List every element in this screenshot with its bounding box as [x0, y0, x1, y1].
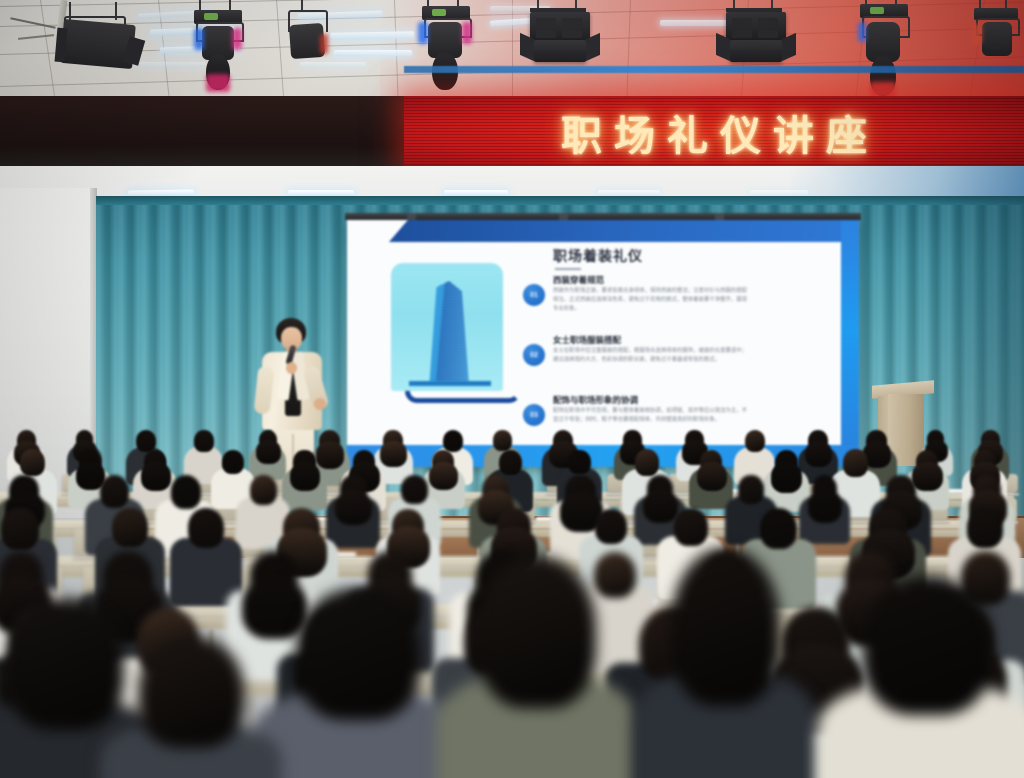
audience-member-head	[595, 509, 627, 544]
led-banner-text: 职场礼仪讲座	[404, 102, 1024, 162]
foreground-attendee-head	[478, 556, 596, 708]
audience-member-head	[674, 508, 708, 545]
ceiling-red-light-wash	[380, 0, 1024, 98]
par-can-light-icon	[282, 10, 332, 68]
lecture-hall-photo: 职场礼仪讲座 职场着装礼仪	[0, 0, 1024, 778]
audience-member-head	[250, 475, 277, 505]
moving-head-light-icon	[852, 4, 914, 98]
curtain-top-shadow	[96, 196, 1024, 205]
foreground-attendee-head	[138, 636, 244, 748]
barn-door-spotlight-icon	[44, 18, 136, 80]
slide-item-heading: 配饰与职场形象的协调	[553, 394, 638, 406]
slide-title-underline	[555, 268, 581, 270]
audience-member-head	[568, 450, 590, 475]
slide-item-heading: 女士职场服装搭配	[553, 334, 621, 346]
audience-member-head	[100, 475, 130, 508]
slide-item-body: 配饰在职场中不可忽视，要与整体着装相协调，如项链、耳环等应以简洁为主，不宜过于夸…	[553, 407, 749, 425]
slide-building-image	[391, 263, 503, 391]
audience-member-head	[493, 430, 512, 451]
slide-item-body: 女士在职场中应注重服装的搭配，根据场合选择得体的服饰，裙装的长度要适中；建议选择…	[553, 347, 749, 365]
slide-item-heading: 西装穿着规范	[553, 274, 604, 286]
led-banner-blue-trim	[404, 66, 1024, 73]
audience-member-head	[194, 430, 214, 452]
slide-top-banner	[389, 220, 859, 242]
audience-member-head	[499, 450, 522, 476]
led-banner-dark-section	[0, 96, 404, 168]
foreground-attendee-head	[671, 548, 780, 706]
foreground-attendee	[628, 548, 823, 778]
audience-member-head	[188, 508, 224, 548]
presenter-hand	[314, 398, 326, 410]
audience-member-head	[738, 475, 764, 503]
foreground-attendee	[432, 556, 642, 778]
foreground-attendee-head	[863, 576, 992, 715]
presenter-hand	[286, 362, 297, 374]
ceiling	[0, 0, 1024, 98]
ceiling-light-panel	[330, 31, 414, 39]
audience-member-head	[843, 449, 868, 477]
slide-item-number: 02	[523, 344, 545, 366]
audience-member-head	[635, 449, 659, 476]
led-banner-screen: 职场礼仪讲座	[404, 96, 1024, 168]
screen-mounting-rail	[345, 213, 861, 220]
slide-surface: 职场着装礼仪 01 西装穿着规范 西装作为职场正装，要求剪裁合身得体，保持西装的…	[347, 220, 859, 467]
projection-screen: 职场着装礼仪 01 西装穿着规范 西装作为职场正装，要求剪裁合身得体，保持西装的…	[345, 213, 861, 475]
audience-member-head	[401, 475, 427, 504]
slide-item-body: 西装作为职场正装，要求剪裁合身得体，保持西装的整洁；注意衬衫与西服的搭配得当，正…	[553, 287, 749, 314]
skyscraper-window-bands	[419, 281, 477, 383]
slide-item-number: 03	[523, 404, 545, 426]
foreground-attendee	[812, 576, 1024, 778]
moving-head-light-icon	[966, 8, 1024, 74]
foreground-attendee-head	[296, 588, 419, 720]
audience-member-head	[112, 508, 147, 547]
led-banner-band: 职场礼仪讲座	[0, 96, 1024, 168]
audience-member-head	[967, 508, 1003, 548]
audience-member-head	[171, 475, 202, 509]
audience-member-head	[760, 508, 797, 549]
slide-item-number: 01	[523, 284, 545, 306]
slide-title: 职场着装礼仪	[553, 246, 643, 266]
moving-head-light-icon	[186, 10, 248, 92]
foreground-attendee	[96, 636, 286, 778]
audience-member-head	[20, 449, 44, 476]
moving-head-light-icon	[414, 6, 476, 92]
audience-member-head	[222, 450, 244, 474]
skyscraper-base	[409, 381, 491, 386]
audience-member-head	[1, 508, 39, 549]
ceiling-light-panel	[334, 50, 412, 56]
